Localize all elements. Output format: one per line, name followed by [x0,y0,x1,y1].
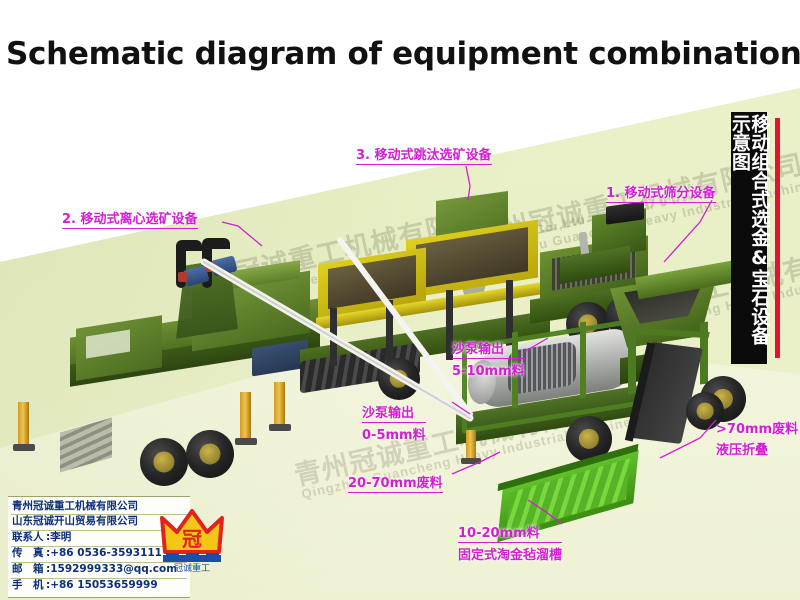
mobile-row: 手 机:+86 15053659999 [11,579,187,594]
annotation-text: 0-5mm料 [362,423,426,443]
jig-support-leg [386,300,393,364]
annotation-text: 20-70mm废料 [348,472,443,493]
wheel [140,438,188,486]
motor-cap-right [206,262,215,272]
leg-foot [13,444,35,451]
leg-foot [461,458,481,464]
contact-person-value: 李明 [50,531,71,543]
mobile-label: 手 机 [12,579,46,593]
logo-caption: 冠诚重工 [174,562,210,574]
jig-support-leg [330,308,337,366]
annotation-label-2: 2. 移动式离心选矿设备 [62,208,198,229]
leg-foot [235,438,257,445]
logo-base-block [166,553,179,557]
crown-logo: 冠 冠诚重工 [160,506,224,574]
annotation-text: 沙泵输出 [452,338,525,359]
annotation-text: >70mm废料 [716,418,798,438]
trommel-cage-post [580,322,586,399]
annotation-text: 液压折叠 [716,438,798,458]
vertical-banner: 移动组合式选金&宝石设备示意图 [731,112,767,364]
centrifugal-pipe-left-elbow [176,240,202,251]
wheel [378,358,420,400]
banner-red-bar [775,118,780,358]
motor-cap-left [178,272,187,282]
annotation-text: 10-20mm料 [458,522,562,543]
logo-base-block [186,553,199,557]
annotation-waste-20-70: 20-70mm废料 [348,472,443,493]
fax-value: +86 0536-3593111 [50,547,162,559]
annotation-waste-over-70: >70mm废料 液压折叠 [716,418,798,458]
email-label: 邮 箱 [12,563,46,577]
vertical-banner-text: 移动组合式选金&宝石设备示意图 [730,114,769,362]
annotation-text: 3. 移动式跳汰选矿设备 [356,144,492,165]
fax-label: 传 真 [12,547,46,561]
hydraulic-leg [466,430,476,460]
logo-glyph: 冠 [182,527,202,551]
mobile-value: +86 15053659999 [50,579,157,591]
contact-person-label: 联系人 [12,531,46,545]
annotation-pump-out-5-10: 沙泵输出 5-10mm料 [452,338,525,379]
annotation-text: 2. 移动式离心选矿设备 [62,208,198,229]
annotation-label-3: 3. 移动式跳汰选矿设备 [356,144,492,165]
hydraulic-leg [274,382,285,426]
email-value: 1592999333@qq.com [50,563,177,575]
hydraulic-leg [18,402,29,446]
diagram-canvas: 青州冠诚重工机械有限公司 Qingzhou Guancheng Heavy In… [0,0,800,600]
leg-foot [269,424,291,431]
annotation-pump-out-0-5: 沙泵输出 0-5mm料 [362,402,426,443]
hydraulic-leg [240,392,251,440]
logo-base-block [206,553,219,557]
annotation-text: 5-10mm料 [452,359,525,379]
wheel [186,430,234,478]
annotation-text: 固定式淘金毡溜槽 [458,543,562,563]
annotation-text: 1. 移动式筛分设备 [606,182,716,203]
annotation-label-1: 1. 移动式筛分设备 [606,182,716,203]
centrifugal-pipe-right-elbow [202,238,230,249]
hopper-frame-leg [628,334,636,395]
annotation-text: 沙泵输出 [362,402,426,423]
annotation-sluice-10-20: 10-20mm料 固定式淘金毡溜槽 [458,522,562,563]
page-title: Schematic diagram of equipment combinati… [6,36,800,72]
